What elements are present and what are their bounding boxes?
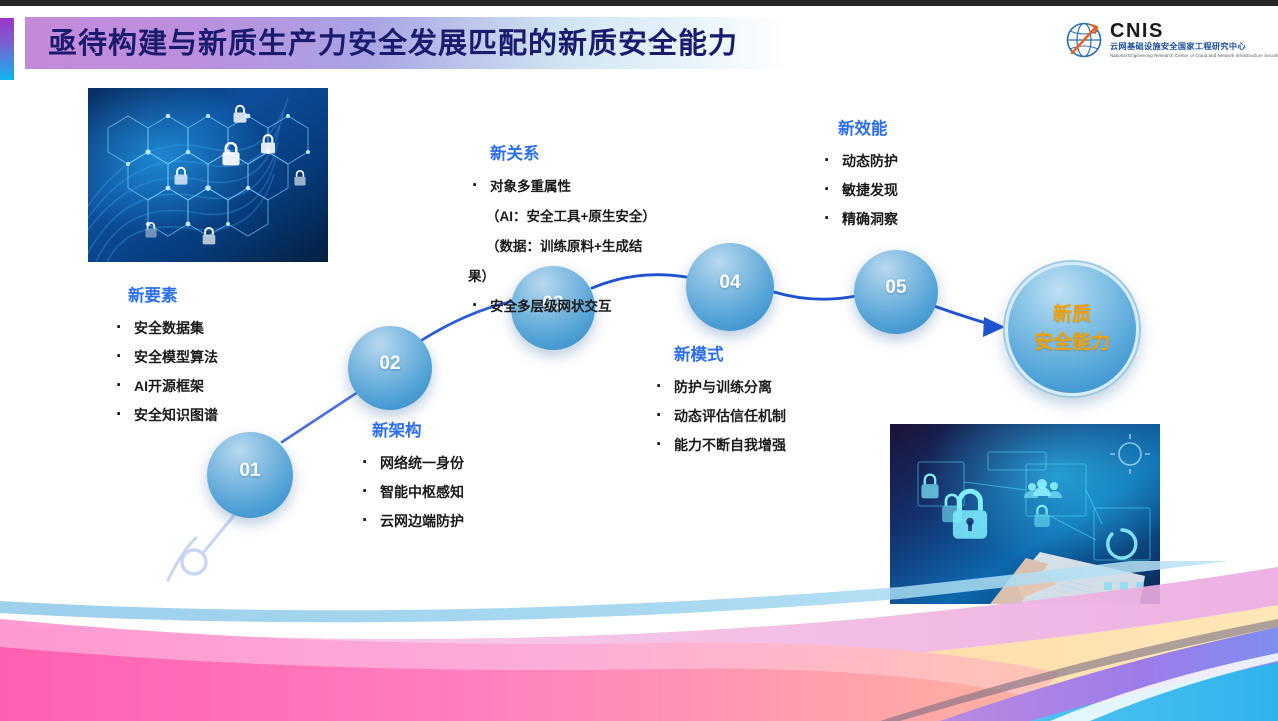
list-item: 动态评估信任机制 xyxy=(652,402,786,431)
top-strip xyxy=(0,0,1278,6)
list-item: AI开源框架 xyxy=(112,372,218,401)
block-list: 动态防护 敏捷发现 精确洞察 xyxy=(820,147,898,234)
list-item-continuation: 果） xyxy=(468,262,656,292)
logo-acronym: CNIS xyxy=(1110,21,1278,41)
page-title: 亟待构建与新质生产力安全发展匹配的新质安全能力 xyxy=(48,24,808,64)
flow-node-05[interactable]: 05 xyxy=(854,250,938,334)
list-item: 云网边端防护 xyxy=(358,507,464,536)
globe-icon xyxy=(1065,21,1103,59)
node-label: 05 xyxy=(885,277,906,299)
bottom-decoration xyxy=(0,561,1278,721)
block-new-elements: 新要素 安全数据集 安全模型算法 AI开源框架 安全知识图谱 xyxy=(112,285,218,430)
list-item-continuation: （AI：安全工具+原生安全） xyxy=(468,202,656,232)
logo-name-cn: 云网基础设施安全国家工程研究中心 xyxy=(1110,41,1278,52)
node-label: 04 xyxy=(719,272,740,294)
title-accent-bar xyxy=(0,18,14,80)
block-new-mode: 新模式 防护与训练分离 动态评估信任机制 能力不断自我增强 xyxy=(652,344,786,460)
block-new-performance: 新效能 动态防护 敏捷发现 精确洞察 xyxy=(820,118,898,234)
list-item: 能力不断自我增强 xyxy=(652,431,786,460)
list-item-continuation: （数据：训练原料+生成结 xyxy=(468,232,656,262)
block-new-architecture: 新架构 网络统一身份 智能中枢感知 云网边端防护 xyxy=(358,420,464,536)
result-label-line1: 新质 xyxy=(1053,302,1091,328)
flow-node-04[interactable]: 04 xyxy=(686,243,774,331)
slide-canvas: 亟待构建与新质生产力安全发展匹配的新质安全能力 CNIS 云网基础设施安全国家工… xyxy=(0,0,1278,721)
block-heading: 新关系 xyxy=(490,143,656,165)
list-item: 敏捷发现 xyxy=(820,176,898,205)
list-item: 安全知识图谱 xyxy=(112,401,218,430)
block-heading: 新要素 xyxy=(128,285,218,307)
list-item: 精确洞察 xyxy=(820,205,898,234)
block-list: 防护与训练分离 动态评估信任机制 能力不断自我增强 xyxy=(652,373,786,460)
logo-text-group: CNIS 云网基础设施安全国家工程研究中心 National Engineeri… xyxy=(1110,21,1278,59)
list-item: 安全多层级网状交互 xyxy=(468,292,656,322)
list-item: 对象多重属性 xyxy=(468,172,656,202)
list-item: 安全模型算法 xyxy=(112,343,218,372)
network-security-image xyxy=(88,88,328,262)
logo-name-en: National Engineering Research Center of … xyxy=(1110,52,1278,59)
block-list: 对象多重属性 （AI：安全工具+原生安全） （数据：训练原料+生成结 果） 安全… xyxy=(468,172,656,322)
flow-node-02[interactable]: 02 xyxy=(348,326,432,410)
node-label: 01 xyxy=(239,460,260,482)
block-list: 安全数据集 安全模型算法 AI开源框架 安全知识图谱 xyxy=(112,314,218,430)
node-label: 02 xyxy=(379,353,400,375)
list-item: 网络统一身份 xyxy=(358,449,464,478)
result-node-new-security-capability[interactable]: 新质 安全能力 xyxy=(1005,262,1139,396)
list-item: 智能中枢感知 xyxy=(358,478,464,507)
list-item: 防护与训练分离 xyxy=(652,373,786,402)
block-heading: 新模式 xyxy=(674,344,786,366)
list-item: 安全数据集 xyxy=(112,314,218,343)
list-item: 动态防护 xyxy=(820,147,898,176)
block-new-relation: 新关系 对象多重属性 （AI：安全工具+原生安全） （数据：训练原料+生成结 果… xyxy=(468,143,656,322)
cnis-logo: CNIS 云网基础设施安全国家工程研究中心 National Engineeri… xyxy=(1065,20,1265,60)
block-heading: 新架构 xyxy=(372,420,464,442)
block-heading: 新效能 xyxy=(838,118,898,140)
result-label-line2: 安全能力 xyxy=(1034,330,1110,356)
block-list: 网络统一身份 智能中枢感知 云网边端防护 xyxy=(358,449,464,536)
flow-node-01[interactable]: 01 xyxy=(207,432,293,518)
